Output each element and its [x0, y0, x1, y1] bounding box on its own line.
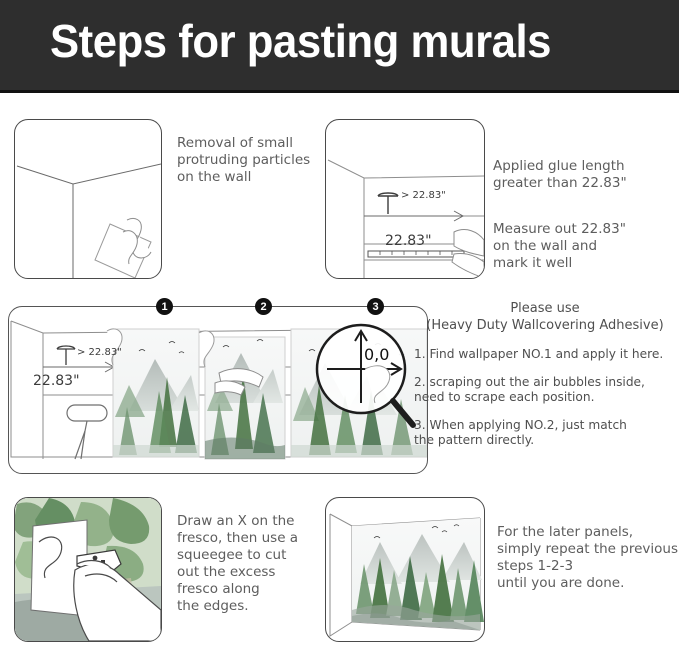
step2-caption-bottom: Measure out 22.83" on the wall and mark …	[493, 221, 673, 272]
page-title: Steps for pasting murals	[50, 14, 551, 68]
hand-icon	[452, 230, 484, 278]
middle-application-strip: > 22.83" 22.83" 0,0	[8, 306, 428, 474]
step-badge-1: 1	[156, 298, 173, 315]
mural-panel-2	[199, 331, 285, 459]
instructions-heading-line2: (Heavy Duty Wallcovering Adhesive)	[414, 317, 676, 334]
step5-caption: For the later panels, simply repeat the …	[497, 524, 679, 592]
step1-illustration-panel	[14, 119, 162, 279]
adhesive-instructions: Please use (Heavy Duty Wallcovering Adhe…	[414, 300, 676, 448]
marker-t-icon	[378, 193, 398, 214]
ruler-icon	[368, 251, 464, 257]
step2-caption-top: Applied glue length greater than 22.83"	[493, 158, 673, 192]
finished-mural-wall-drawing	[326, 498, 484, 641]
wall-corner-drawing	[15, 120, 162, 279]
step2-measure-label: 22.83"	[385, 233, 432, 249]
magnifier-origin-label: 0,0	[364, 345, 389, 364]
step4-caption: Draw an X on the fresco, then use a sque…	[177, 513, 337, 615]
step-badge-2: 2	[255, 298, 272, 315]
instruction-item-1: 1. Find wallpaper NO.1 and apply it here…	[414, 347, 676, 362]
step5-illustration-panel	[325, 497, 485, 642]
middle-strip-drawing	[9, 307, 427, 473]
instruction-item-3: 3. When applying NO.2, just match the pa…	[414, 418, 676, 448]
step1-caption: Removal of small protruding particles on…	[177, 135, 327, 186]
middle-marker-label: > 22.83"	[77, 347, 122, 358]
step2-marker-label: > 22.83"	[401, 190, 446, 201]
instruction-sheet: Steps for pasting murals Removal of smal…	[0, 0, 679, 652]
paint-roller-icon	[67, 405, 107, 459]
header-bar: Steps for pasting murals	[0, 0, 679, 93]
step-badge-3: 3	[367, 298, 384, 315]
step4-illustration-panel	[14, 497, 162, 642]
leaf-mural-squeegee-drawing	[15, 498, 161, 641]
middle-measure-label: 22.83"	[33, 373, 80, 389]
instructions-heading-line1: Please use	[414, 300, 676, 317]
instruction-item-2: 2. scraping out the air bubbles inside, …	[414, 375, 676, 405]
